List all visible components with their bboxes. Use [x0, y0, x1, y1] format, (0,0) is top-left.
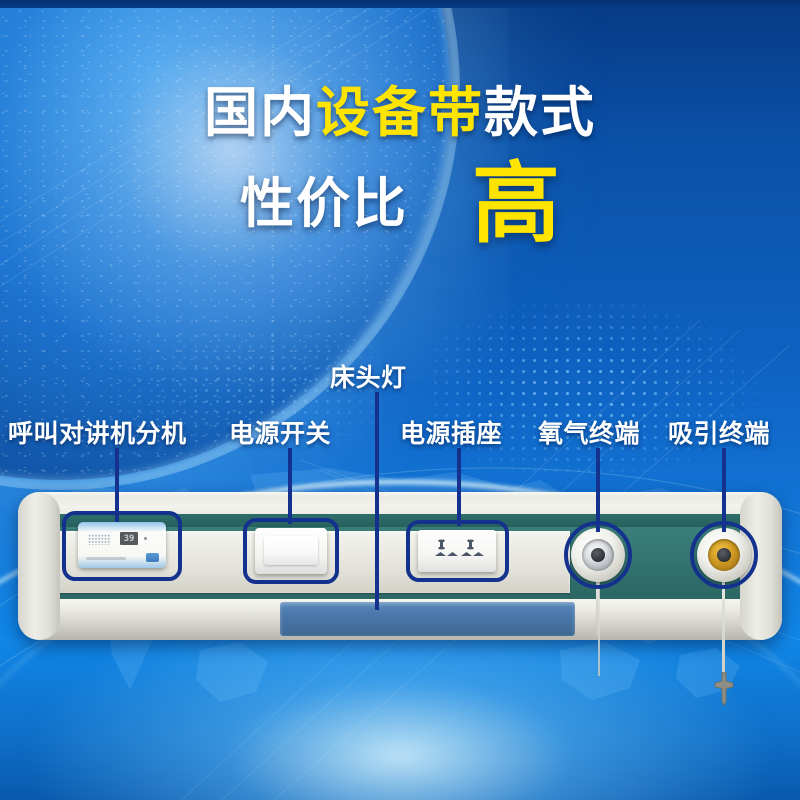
headline-emphasis: 高: [472, 162, 560, 246]
callout-label-bed-lamp: 床头灯: [330, 358, 407, 394]
headline-part-2: 设备带: [316, 81, 484, 144]
callout-label-power-socket: 电源插座: [400, 414, 502, 450]
callout-label-power-switch: 电源开关: [229, 414, 331, 450]
headline-part-1: 国内: [204, 81, 316, 144]
headline-block: 国内设备带款式 性价比 高: [0, 86, 800, 246]
callout-label-oxygen-terminal: 氧气终端: [538, 414, 640, 450]
headline-subtitle: 性价比: [240, 177, 408, 231]
headline-part-3: 款式: [484, 81, 596, 144]
advertisement-banner: 国内设备带款式 性价比 高 呼叫对讲机分机 电源开关 床头灯 电源插座 氧气终端…: [0, 0, 800, 800]
headline-line-2: 性价比 高: [0, 162, 800, 246]
headline-line-1: 国内设备带款式: [0, 86, 800, 140]
callout-label-suction-terminal: 吸引终端: [668, 414, 770, 450]
callout-label-call-intercom: 呼叫对讲机分机: [8, 414, 187, 450]
